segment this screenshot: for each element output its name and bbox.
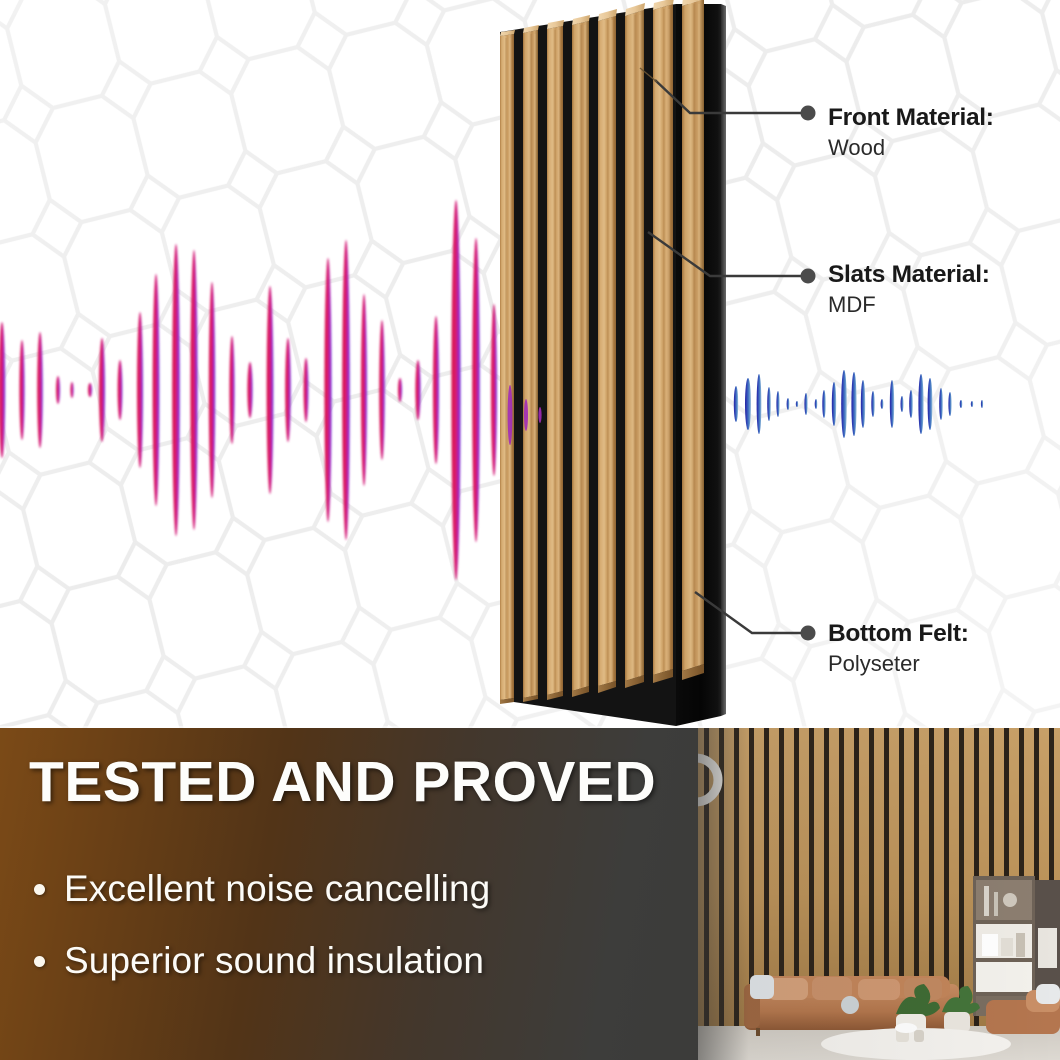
section-divider — [0, 726, 1060, 728]
callout-leader-lines — [600, 0, 860, 728]
leader-dot-bottom-felt — [801, 626, 816, 641]
benefits-list: Excellent noise cancelling Superior soun… — [34, 868, 634, 1012]
leader-line-bottom-felt — [695, 592, 805, 633]
living-room-scene — [698, 728, 1060, 1060]
product-detail-section: Front Material: Wood Slats Material: MDF… — [0, 0, 1060, 728]
leader-dot-slats-material — [801, 269, 816, 284]
benefit-noise-cancelling: Excellent noise cancelling — [64, 868, 490, 910]
benefit-sound-insulation: Superior sound insulation — [64, 940, 484, 982]
callout-front-material-value: Wood — [828, 134, 994, 163]
incoming-sound-waveform — [0, 190, 524, 590]
callout-slats-material-value: MDF — [828, 291, 990, 320]
callout-bottom-felt: Bottom Felt: Polyseter — [828, 620, 969, 679]
sound-through-panel — [500, 380, 560, 450]
callout-slats-material: Slats Material: MDF — [828, 261, 990, 320]
callout-bottom-felt-title: Bottom Felt: — [828, 620, 969, 647]
callout-bottom-felt-value: Polyseter — [828, 650, 969, 679]
list-item: Superior sound insulation — [34, 940, 634, 982]
leader-line-front-material — [655, 80, 805, 113]
leader-dot-front-material — [801, 106, 816, 121]
tested-and-proved-section: TESTED AND PROVED Excellent noise cancel… — [0, 728, 1060, 1060]
callout-labels: Front Material: Wood Slats Material: MDF… — [828, 0, 1060, 728]
callout-front-material: Front Material: Wood — [828, 104, 994, 163]
infographic-stage: Front Material: Wood Slats Material: MDF… — [0, 0, 1060, 1060]
list-item: Excellent noise cancelling — [34, 868, 634, 910]
tested-and-proved-heading: TESTED AND PROVED — [29, 754, 656, 811]
bullet-dot-icon — [34, 956, 45, 967]
callout-slats-material-title: Slats Material: — [828, 261, 990, 288]
leader-line-slats-material — [648, 232, 805, 276]
callout-front-material-title: Front Material: — [828, 104, 994, 131]
bullet-dot-icon — [34, 884, 45, 895]
